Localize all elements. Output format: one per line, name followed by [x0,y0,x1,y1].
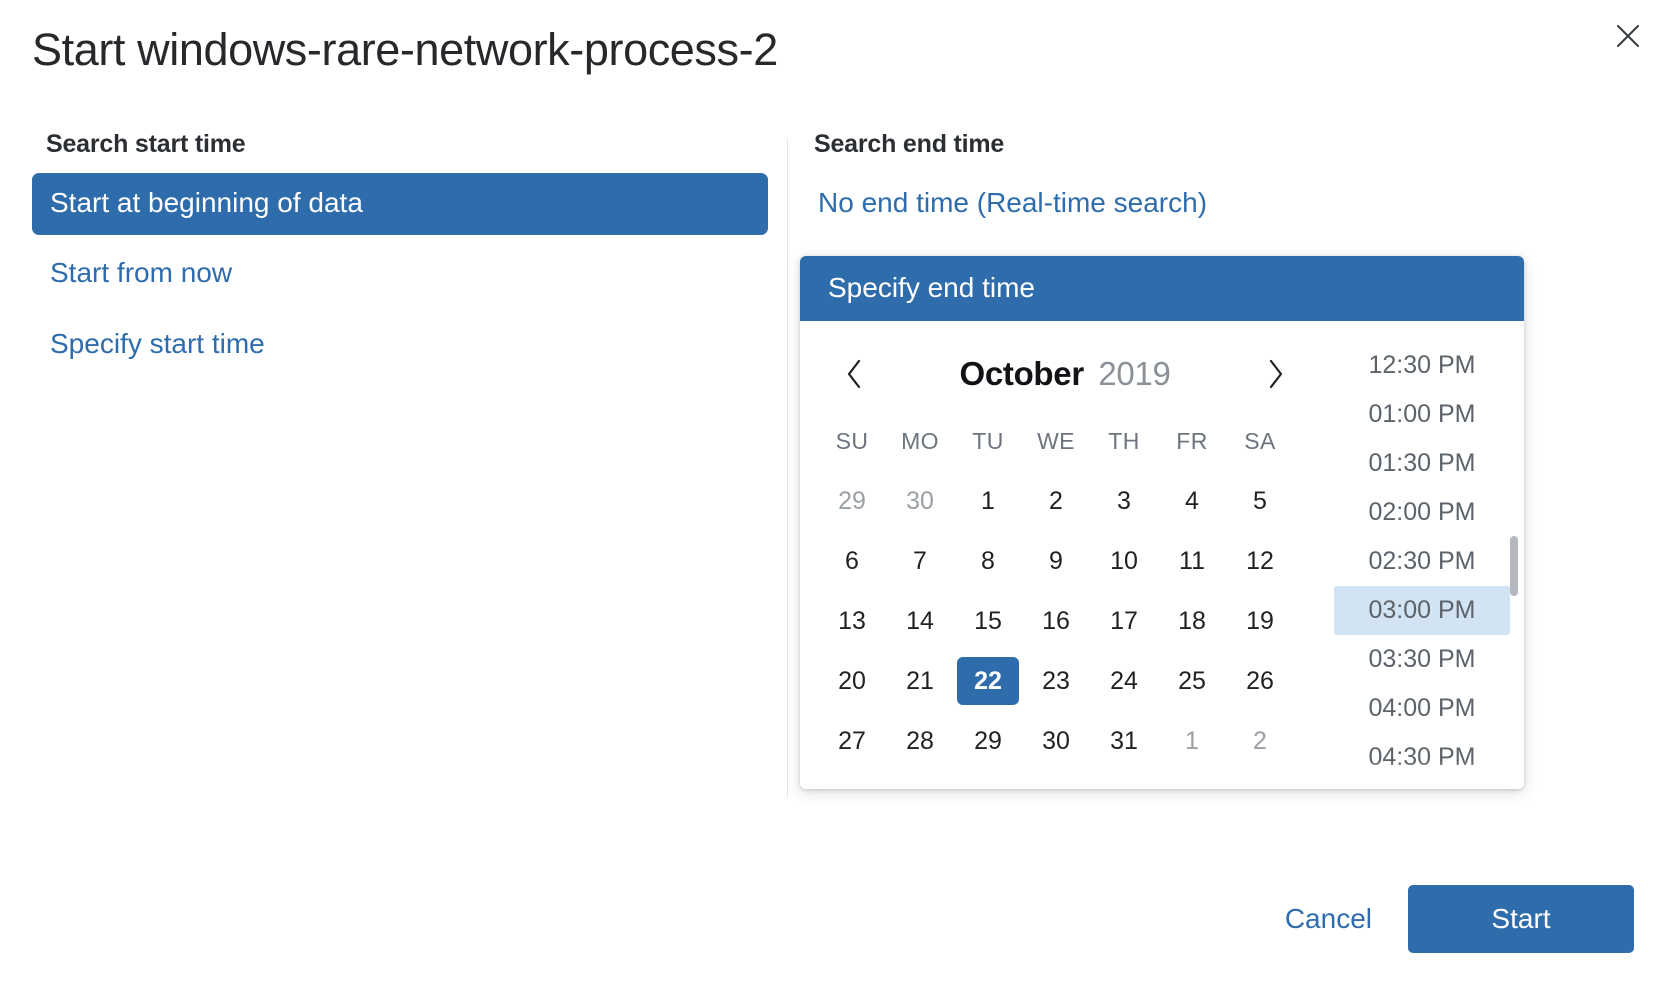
calendar-day[interactable]: 13 [818,591,886,651]
calendar-day-label: 19 [1229,597,1291,645]
calendar-day-label: 26 [1229,657,1291,705]
calendar-day[interactable]: 29 [954,711,1022,771]
calendar-day[interactable]: 23 [1022,651,1090,711]
calendar-day[interactable]: 10 [1090,531,1158,591]
calendar-day-label: 9 [1025,537,1087,585]
calendar-day-label: 30 [1025,717,1087,765]
calendar-day-label: 7 [889,537,951,585]
calendar-day[interactable]: 6 [818,531,886,591]
calendar-day[interactable]: 28 [886,711,954,771]
calendar-day-label: 21 [889,657,951,705]
cancel-button[interactable]: Cancel [1259,887,1398,951]
calendar-day-label: 2 [1025,477,1087,525]
calendar-day[interactable]: 31 [1090,711,1158,771]
datetime-picker: October 2019 SUMOTUWETHFRSA2930123456789… [800,321,1524,789]
end-time-picker-card: Specify end time October 2019 [800,256,1524,789]
time-option[interactable]: 03:30 PM [1334,635,1510,684]
calendar-day-header: TH [1090,411,1158,471]
calendar-day-label: 11 [1161,537,1223,585]
calendar-day-label: 29 [821,477,883,525]
calendar-day-label: 13 [821,597,883,645]
start-search-dialog: Start windows-rare-network-process-2 Sea… [0,0,1666,994]
option-start-at-beginning-of-data[interactable]: Start at beginning of data [32,173,768,235]
calendar-day-label: 28 [889,717,951,765]
time-option[interactable]: 04:30 PM [1334,733,1510,782]
time-option[interactable]: 02:00 PM [1334,488,1510,537]
time-option[interactable]: 04:00 PM [1334,684,1510,733]
calendar-grid: SUMOTUWETHFRSA29301234567891011121314151… [818,411,1312,771]
calendar-day[interactable]: 1 [1158,711,1226,771]
calendar-day-label: 18 [1161,597,1223,645]
calendar-day-label: 5 [1229,477,1291,525]
calendar-day[interactable]: 29 [818,471,886,531]
chevron-left-icon[interactable] [832,352,876,396]
calendar-day[interactable]: 15 [954,591,1022,651]
calendar-day-label: 4 [1161,477,1223,525]
calendar-day[interactable]: 24 [1090,651,1158,711]
calendar-day[interactable]: 30 [886,471,954,531]
calendar-day[interactable]: 20 [818,651,886,711]
calendar-day-header: MO [886,411,954,471]
calendar-day[interactable]: 1 [954,471,1022,531]
calendar-day[interactable]: 12 [1226,531,1294,591]
spacer [32,306,792,314]
time-option-selected[interactable]: 03:00 PM [1334,586,1510,635]
calendar-day-label: 3 [1093,477,1155,525]
calendar-day-label: 29 [957,717,1019,765]
calendar-day-header: SA [1226,411,1294,471]
time-list-panel: 12:30 PM01:00 PM01:30 PM02:00 PM02:30 PM… [1320,321,1524,789]
close-icon[interactable] [1606,14,1650,58]
calendar-day-label: 24 [1093,657,1155,705]
time-option[interactable]: 05:00 PM [1334,782,1510,789]
option-start-from-now[interactable]: Start from now [32,243,768,305]
calendar-day-label: 8 [957,537,1019,585]
calendar-day-header: SU [818,411,886,471]
calendar-day[interactable]: 14 [886,591,954,651]
calendar-day-label: 15 [957,597,1019,645]
spacer [32,235,792,243]
calendar-month: October [959,355,1083,392]
calendar-day-label: 30 [889,477,951,525]
calendar-day[interactable]: 17 [1090,591,1158,651]
calendar-nav: October 2019 [818,345,1312,403]
calendar-day[interactable]: 21 [886,651,954,711]
search-end-time-label: Search end time [814,130,1540,159]
calendar-day[interactable]: 27 [818,711,886,771]
calendar-day-label: 6 [821,537,883,585]
start-button[interactable]: Start [1408,885,1634,953]
calendar-day-label: 31 [1093,717,1155,765]
calendar-day[interactable]: 5 [1226,471,1294,531]
calendar-day-label: 23 [1025,657,1087,705]
time-option[interactable]: 12:30 PM [1334,341,1510,390]
calendar-day[interactable]: 25 [1158,651,1226,711]
calendar-day-header: FR [1158,411,1226,471]
calendar-day-header: TU [954,411,1022,471]
option-specify-end-time[interactable]: Specify end time [800,256,1524,321]
calendar-day[interactable]: 16 [1022,591,1090,651]
calendar-day-label: 2 [1229,717,1291,765]
calendar-day-header: WE [1022,411,1090,471]
calendar-day-label: 1 [1161,717,1223,765]
calendar-day-selected[interactable]: 22 [954,651,1022,711]
calendar-year: 2019 [1098,355,1170,392]
dialog-body: Search start time Start at beginning of … [0,130,1666,810]
search-end-time-column: Search end time No end time (Real-time s… [800,130,1540,235]
chevron-right-icon[interactable] [1254,352,1298,396]
calendar-day[interactable]: 8 [954,531,1022,591]
calendar-day-label: 10 [1093,537,1155,585]
time-option[interactable]: 02:30 PM [1334,537,1510,586]
calendar-day[interactable]: 4 [1158,471,1226,531]
calendar-month-year: October 2019 [876,355,1254,393]
calendar-day-label: 1 [957,477,1019,525]
time-list-scrollbar[interactable] [1510,536,1518,596]
search-start-time-label: Search start time [46,130,792,159]
calendar-day[interactable]: 30 [1022,711,1090,771]
dialog-footer: Cancel Start [0,844,1666,994]
search-start-time-column: Search start time Start at beginning of … [32,130,792,376]
calendar-day-label: 20 [821,657,883,705]
calendar-day-label: 25 [1161,657,1223,705]
calendar-day-label: 22 [957,657,1019,705]
calendar-day[interactable]: 2 [1022,471,1090,531]
calendar: October 2019 SUMOTUWETHFRSA2930123456789… [800,321,1320,789]
time-list[interactable]: 12:30 PM01:00 PM01:30 PM02:00 PM02:30 PM… [1320,341,1524,789]
option-no-end-time[interactable]: No end time (Real-time search) [800,173,1524,235]
calendar-day[interactable]: 7 [886,531,954,591]
calendar-day-label: 27 [821,717,883,765]
calendar-day[interactable]: 18 [1158,591,1226,651]
calendar-day-label: 16 [1025,597,1087,645]
calendar-day-label: 17 [1093,597,1155,645]
calendar-day[interactable]: 9 [1022,531,1090,591]
page-title: Start windows-rare-network-process-2 [32,24,778,76]
calendar-day-label: 12 [1229,537,1291,585]
calendar-day[interactable]: 3 [1090,471,1158,531]
calendar-day[interactable]: 2 [1226,711,1294,771]
calendar-day-label: 14 [889,597,951,645]
calendar-day[interactable]: 19 [1226,591,1294,651]
time-option[interactable]: 01:00 PM [1334,390,1510,439]
time-option[interactable]: 01:30 PM [1334,439,1510,488]
option-specify-start-time[interactable]: Specify start time [32,314,768,376]
calendar-day[interactable]: 11 [1158,531,1226,591]
calendar-day[interactable]: 26 [1226,651,1294,711]
